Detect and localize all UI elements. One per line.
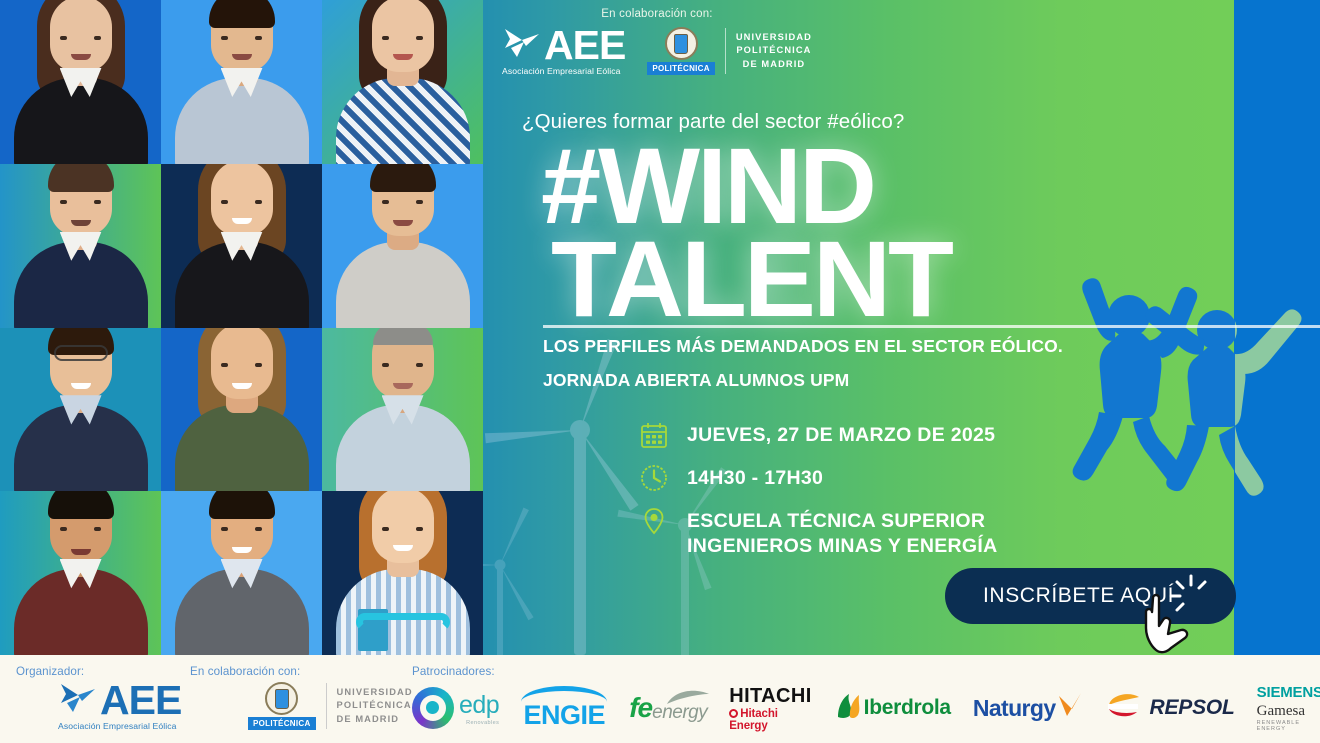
clock-icon — [639, 463, 669, 493]
portrait-cell — [161, 328, 322, 492]
footer-aee-wordmark: AEE — [100, 682, 181, 720]
footer-aee-logo: AEE Asociación Empresarial Eólica — [58, 681, 181, 731]
sponsor-gamesa-name: Gamesa — [1257, 703, 1305, 719]
footer-upm-line1: UNIVERSIDAD — [337, 686, 413, 699]
location-pin-icon — [639, 506, 669, 536]
hitachi-mark-icon — [729, 709, 738, 718]
sponsor-hitachi-name: HITACHI — [729, 685, 811, 708]
portrait-cell — [0, 491, 161, 655]
event-detail-time: 14H30 - 17H30 — [639, 463, 997, 493]
footer-bar: Organizador: AEE Asociación Empre — [0, 655, 1320, 743]
portrait-cell — [322, 164, 483, 328]
portrait-cell — [0, 164, 161, 328]
footer-upm-badge: POLITÉCNICA — [248, 717, 316, 730]
portrait-cell — [0, 0, 161, 164]
sponsor-fe-energy: fe energy — [629, 692, 707, 724]
upm-divider — [326, 683, 327, 729]
click-spark-icon — [1168, 573, 1214, 619]
sponsor-iberdrola: Iberdrola — [834, 691, 951, 726]
poster-root: En colaboración con: AEE Asociación Empr… — [0, 0, 1320, 743]
sponsor-siemens-gamesa: SIEMENS Gamesa RENEWABLE ENERGY — [1257, 684, 1320, 732]
sponsor-siemens-name: SIEMENS — [1257, 684, 1320, 701]
footer-aee-tagline: Asociación Empresarial Eólica — [58, 721, 177, 731]
hero-title: #WIND TALENT — [541, 140, 951, 326]
sponsor-edp-sub: Renovables — [466, 720, 499, 726]
sponsor-engie-name: ENGIE — [523, 700, 605, 731]
calendar-icon — [639, 420, 669, 450]
portrait-cell — [0, 328, 161, 492]
portrait-cell — [161, 491, 322, 655]
event-date-text: JUEVES, 27 DE MARZO DE 2025 — [687, 420, 995, 448]
hero-content: ¿Quieres formar parte del sector #eólico… — [515, 0, 1215, 655]
sponsor-engie: ENGIE — [521, 686, 607, 731]
portrait-photo-grid — [0, 0, 483, 655]
event-detail-location: ESCUELA TÉCNICA SUPERIOR INGENIEROS MINA… — [639, 506, 997, 559]
footer-upm-name-block: UNIVERSIDAD POLITÉCNICA DE MADRID — [337, 686, 413, 726]
portrait-cell — [161, 0, 322, 164]
sponsor-naturgy: Naturgy — [973, 692, 1083, 725]
footer-collaboration-label: En colaboración con: — [190, 665, 413, 678]
portrait-cell — [322, 328, 483, 492]
sponsor-repsol-name: REPSOL — [1150, 696, 1235, 720]
sponsor-iberdrola-name: Iberdrola — [864, 696, 951, 720]
sponsor-edp-name: edp — [459, 691, 499, 720]
repsol-mark-icon — [1105, 691, 1143, 726]
footer-organizer: Organizador: AEE Asociación Empre — [16, 665, 181, 731]
event-details: JUEVES, 27 DE MARZO DE 2025 14H30 - 17H3… — [639, 420, 997, 572]
sponsor-fe-name: fe — [629, 692, 652, 724]
footer-upm-line2: POLITÉCNICA — [337, 699, 413, 712]
event-detail-date: JUEVES, 27 DE MARZO DE 2025 — [639, 420, 997, 450]
hero-subtitle-line2: JORNADA ABIERTA ALUMNOS UPM — [543, 370, 849, 391]
hero-subtitle-line1: LOS PERFILES MÁS DEMANDADOS EN EL SECTOR… — [543, 336, 1063, 357]
portrait-cell — [322, 491, 483, 655]
event-location-text: ESCUELA TÉCNICA SUPERIOR INGENIEROS MINA… — [687, 506, 997, 559]
iberdrola-flame-icon — [834, 691, 864, 726]
footer-upm-logo: POLITÉCNICA UNIVERSIDAD POLITÉCNICA DE M… — [248, 682, 413, 730]
fe-swoosh-icon — [665, 688, 711, 713]
hero-title-line2: TALENT — [541, 233, 951, 326]
hero-divider — [543, 325, 1320, 328]
sponsor-siemens-sub: RENEWABLE ENERGY — [1257, 720, 1320, 732]
sponsor-repsol: REPSOL — [1105, 691, 1235, 726]
sponsor-edp: edp Renovables — [412, 687, 499, 729]
sponsor-hitachi-sub: Hitachi Energy — [729, 708, 811, 732]
cta-container: INSCRÍBETE AQUÍ — [945, 568, 1236, 624]
event-time-text: 14H30 - 17H30 — [687, 463, 823, 491]
naturgy-check-icon — [1057, 692, 1083, 725]
sponsor-naturgy-name: Naturgy — [973, 695, 1056, 722]
footer-sponsors: Patrocinadores: edp Renovables ENGIE fe — [412, 665, 1312, 732]
upm-crest-icon: POLITÉCNICA — [248, 682, 316, 730]
footer-sponsors-label: Patrocinadores: — [412, 665, 1312, 678]
register-button[interactable]: INSCRÍBETE AQUÍ — [945, 568, 1236, 624]
register-button-label: INSCRÍBETE AQUÍ — [983, 584, 1174, 607]
footer-upm-line3: DE MADRID — [337, 713, 413, 726]
portrait-cell — [161, 164, 322, 328]
sponsor-hitachi: HITACHI Hitachi Energy — [729, 685, 811, 732]
footer-collaboration: En colaboración con: POLITÉCNICA UNIVERS… — [190, 665, 413, 730]
aee-wing-icon — [58, 681, 98, 720]
